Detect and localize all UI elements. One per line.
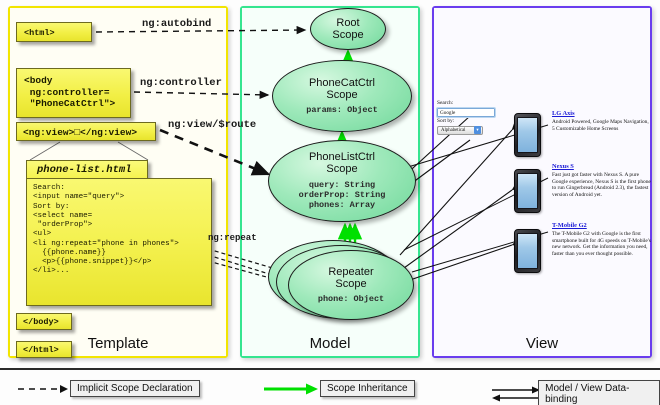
- phone-snippet: The T-Mobile G2 with Google is the first…: [552, 231, 652, 257]
- scope-phonelistctrl-title-line1: PhoneListCtrl: [309, 151, 375, 163]
- chevron-down-icon: ▾: [474, 126, 481, 134]
- scope-phonelistctrl-title-line2: Scope: [326, 163, 357, 175]
- scope-repeater-title-line2: Scope: [335, 278, 366, 290]
- label-ng-autobind: ng:autobind: [142, 18, 211, 30]
- scope-root-title-line2: Scope: [332, 29, 363, 41]
- phone-thumbnail: [514, 229, 541, 273]
- legend-item-data-binding: Model / View Data-binding: [490, 380, 660, 405]
- search-input[interactable]: Google: [437, 108, 495, 117]
- scope-phonecatctrl: PhoneCatCtrl Scope params: Object: [272, 60, 412, 132]
- legend-item-implicit-scope: Implicit Scope Declaration: [16, 380, 200, 397]
- code-box-body-close: </body>: [16, 313, 72, 330]
- partial-file-code: Search: <input name="query"> Sort by: <s…: [26, 178, 212, 306]
- phone-name-link[interactable]: T-Mobile G2: [552, 222, 652, 229]
- scope-phonecatctrl-title-line1: PhoneCatCtrl: [309, 77, 375, 89]
- sort-by-label: Sort by:: [437, 119, 497, 125]
- green-arrow-icon: [262, 382, 320, 396]
- view-search-form: Search: Google Sort by: Alphabetical ▾: [437, 101, 497, 135]
- code-box-body-open: <body ng:controller= "PhoneCatCtrl">: [16, 68, 131, 118]
- code-box-ng-view: <ng:view>□</ng:view>: [16, 122, 156, 141]
- phone-image-lg-axis: [514, 113, 541, 157]
- scope-root: Root Scope: [310, 8, 386, 50]
- phone-screen: [517, 117, 538, 153]
- phone-list-item: LG Axis Android Powered, Google Maps Nav…: [552, 110, 652, 132]
- legend-label-implicit-scope: Implicit Scope Declaration: [70, 380, 200, 397]
- scope-phonelistctrl-props: query: String orderProp: String phones: …: [299, 180, 386, 211]
- panel-model-label: Model: [242, 335, 418, 352]
- dashed-arrow-icon: [16, 382, 70, 396]
- legend: Implicit Scope Declaration Scope Inherit…: [0, 368, 660, 405]
- phone-thumbnail: [514, 113, 541, 157]
- scope-phonelistctrl: PhoneListCtrl Scope query: String orderP…: [268, 140, 416, 222]
- phone-thumbnail: [514, 169, 541, 213]
- scope-repeater-title-line1: Repeater: [328, 266, 373, 278]
- code-box-html-open: <html>: [16, 22, 92, 42]
- double-arrow-icon: [490, 385, 538, 403]
- search-label: Search:: [437, 101, 497, 107]
- phone-name-link[interactable]: LG Axis: [552, 110, 652, 117]
- phone-list-item: Nexus S Fast just got faster with Nexus …: [552, 163, 652, 198]
- scope-repeater: Repeater Scope phone: Object: [288, 250, 414, 320]
- phone-name-link[interactable]: Nexus S: [552, 163, 652, 170]
- label-ng-view-route: ng:view/$route: [168, 119, 256, 131]
- phone-snippet: Android Powered, Google Maps Navigation,…: [552, 119, 652, 132]
- phone-list-item: T-Mobile G2 The T-Mobile G2 with Google …: [552, 222, 652, 257]
- label-ng-controller: ng:controller: [140, 77, 222, 89]
- phone-image-t-mobile-g2: [514, 229, 541, 273]
- sort-by-value: Alphabetical: [441, 128, 466, 133]
- panel-view-label: View: [434, 335, 650, 352]
- scope-phonecatctrl-title-line2: Scope: [326, 89, 357, 101]
- legend-label-data-binding: Model / View Data-binding: [538, 380, 660, 405]
- scope-repeater-props: phone: Object: [318, 294, 384, 304]
- legend-label-scope-inheritance: Scope Inheritance: [320, 380, 415, 397]
- phone-screen: [517, 233, 538, 269]
- sort-by-select[interactable]: Alphabetical ▾: [437, 126, 483, 135]
- scope-root-title-line1: Root: [336, 17, 359, 29]
- partial-file-title: phone-list.html: [26, 160, 148, 179]
- phone-snippet: Fast just got faster with Nexus S. A pur…: [552, 172, 652, 198]
- phone-image-nexus-s: [514, 169, 541, 213]
- scope-phonecatctrl-props: params: Object: [306, 105, 377, 115]
- phone-screen: [517, 173, 538, 209]
- diagram-canvas: Template Model View: [0, 0, 660, 405]
- legend-item-scope-inheritance: Scope Inheritance: [262, 380, 415, 397]
- label-ng-repeat: ng:repeat: [208, 233, 257, 243]
- code-box-html-close: </html>: [16, 341, 72, 358]
